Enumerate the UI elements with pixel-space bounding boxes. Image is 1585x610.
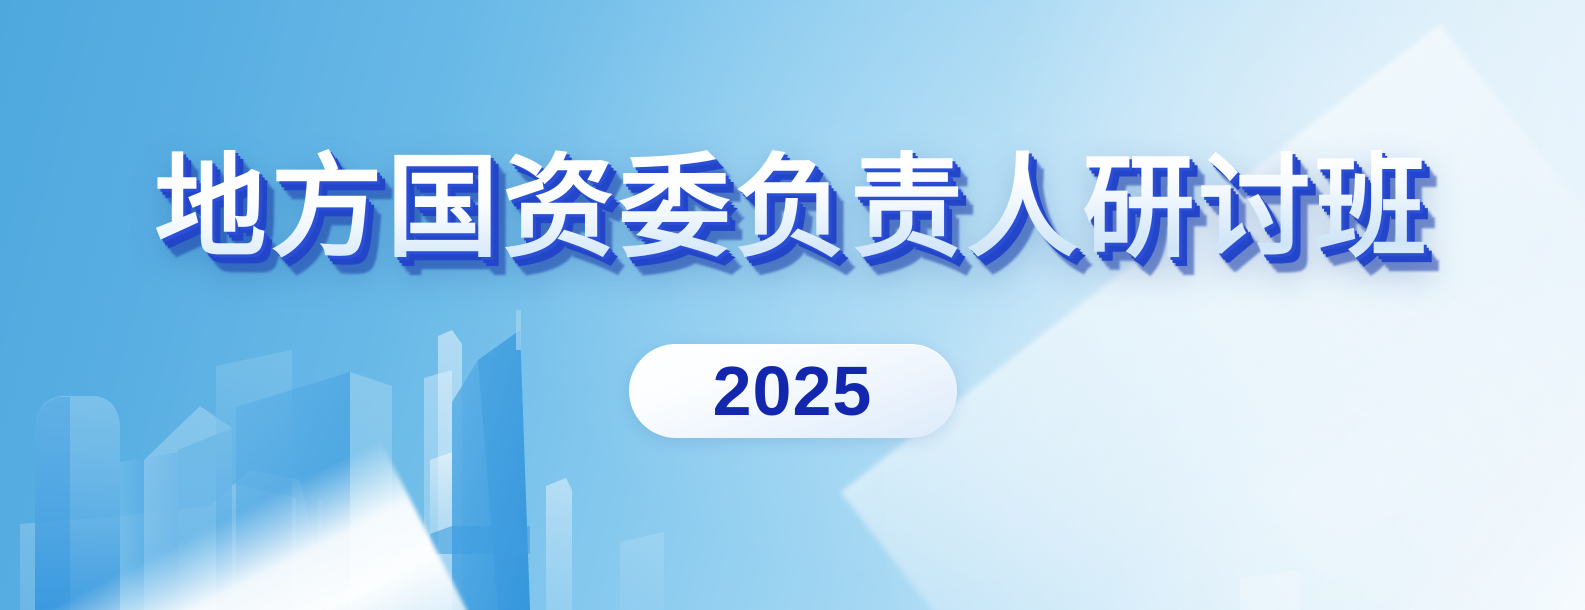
light-wash-top-right [906,0,1585,610]
year-badge-label: 2025 [713,356,873,426]
conference-banner: 地方国资委负责人研讨班 2025 [0,0,1585,610]
banner-title-container: 地方国资委负责人研讨班 [0,146,1585,271]
light-wash-center [520,0,1420,580]
year-badge-container: 2025 [0,344,1585,438]
diagonal-light-streak-bottom-right-icon [841,25,1585,610]
diagonal-light-streak-bottom-left-icon [0,440,571,610]
page-title: 地方国资委负责人研讨班 [155,146,1431,271]
year-badge: 2025 [629,344,957,438]
diagonal-light-streak-top-right-icon [1257,0,1585,610]
